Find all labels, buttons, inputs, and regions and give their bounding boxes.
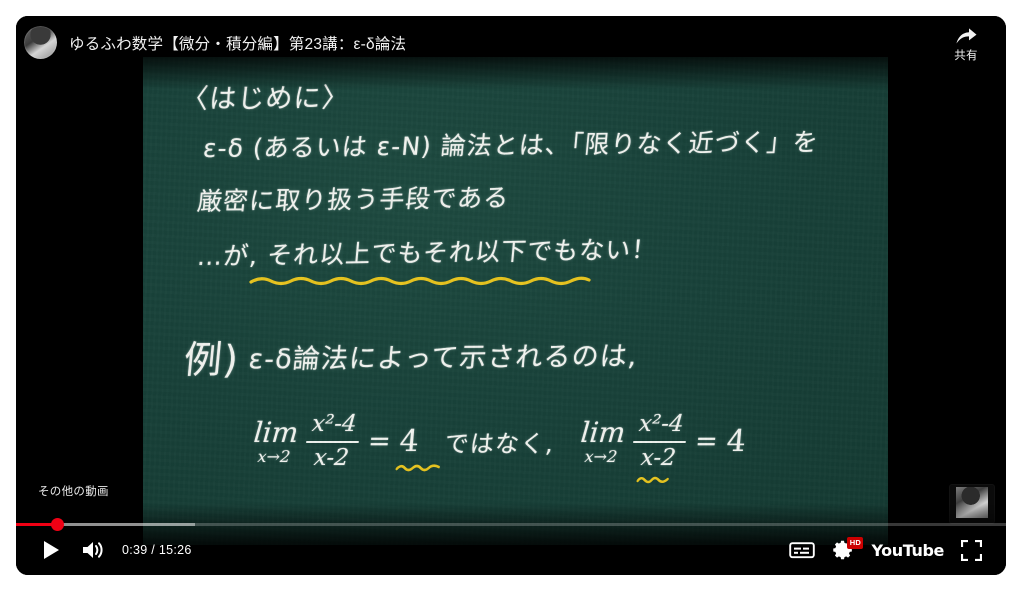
more-videos-label: その他の動画 xyxy=(38,483,109,499)
fullscreen-icon xyxy=(961,540,982,561)
controls-left-group: 0:39 / 15:26 xyxy=(30,533,192,567)
youtube-video-player[interactable]: 〈はじめに〉 ε-δ (あるいは ε-N) 論法とは、「限りなく近づく」を 厳密… xyxy=(16,16,1006,575)
limit-operator-2: lim x→2 xyxy=(578,419,626,465)
controls-right-group: HD YouTube xyxy=(781,533,992,567)
video-surface[interactable]: 〈はじめに〉 ε-δ (あるいは ε-N) 論法とは、「限りなく近づく」を 厳密… xyxy=(16,16,1006,575)
time-display: 0:39 / 15:26 xyxy=(122,543,192,557)
yellow-squiggle-icon-2 xyxy=(637,475,670,484)
denominator-2: x-2 xyxy=(636,446,681,472)
equals-sign-2: = xyxy=(694,426,719,457)
limit-formulas: lim x→2 x²-4 x-2 = 4 xyxy=(253,412,746,472)
blackboard-line-2: ε-δ (あるいは ε-N) 論法とは、「限りなく近づく」を xyxy=(202,123,821,165)
blackboard-heading: 〈はじめに〉 xyxy=(180,76,352,116)
yellow-wavy-underline-icon xyxy=(251,274,589,286)
channel-avatar[interactable] xyxy=(24,26,57,59)
share-arrow-icon xyxy=(954,26,978,46)
youtube-logo-text: YouTube xyxy=(871,541,944,560)
lim-subscript-2: x→2 xyxy=(584,449,618,465)
video-title-group[interactable]: ゆるふわ数学【微分・積分編】第23講：ε-δ論法 xyxy=(24,26,406,59)
yellow-squiggle-icon-1 xyxy=(395,463,440,472)
fraction-2: x²-4 x-2 xyxy=(631,412,689,472)
fraction-1: x²-4 x-2 xyxy=(304,412,362,472)
share-button[interactable]: 共有 xyxy=(940,26,992,63)
equals-sign-1: = xyxy=(367,426,392,457)
blackboard-content: 〈はじめに〉 ε-δ (あるいは ε-N) 論法とは、「限りなく近づく」を 厳密… xyxy=(143,57,888,545)
result-1: 4 xyxy=(398,424,420,459)
play-button[interactable] xyxy=(30,533,72,567)
player-controls-bar: 0:39 / 15:26 HD YouTube xyxy=(16,503,1006,575)
youtube-logo[interactable]: YouTube xyxy=(871,541,944,560)
hd-badge: HD xyxy=(847,537,863,549)
example-text: ε-δ論法によって示されるのは, xyxy=(247,341,639,375)
volume-on-icon xyxy=(81,539,105,561)
result-value-1: 4 xyxy=(398,424,420,459)
subtitles-icon xyxy=(789,540,815,560)
fullscreen-button[interactable] xyxy=(950,533,992,567)
lim-label-1: lim xyxy=(253,419,300,447)
result-value-2: 4 xyxy=(726,424,748,459)
lim-label-2: lim xyxy=(580,419,627,447)
formula-2: lim x→2 x²-4 x-2 = xyxy=(578,412,749,472)
progress-bar[interactable] xyxy=(16,517,1006,531)
formula-1: lim x→2 x²-4 x-2 = 4 xyxy=(250,412,421,472)
volume-button[interactable] xyxy=(72,533,114,567)
fraction-bar-2 xyxy=(634,441,687,443)
result-2: 4 xyxy=(726,424,748,459)
subtitles-button[interactable] xyxy=(781,533,823,567)
lim-subscript-1: x→2 xyxy=(257,449,291,465)
video-title[interactable]: ゆるふわ数学【微分・積分編】第23講：ε-δ論法 xyxy=(69,32,406,54)
numerator-2: x²-4 xyxy=(634,412,689,438)
blackboard-line-3: 厳密に取り扱う手段である xyxy=(196,178,511,218)
denominator-1: x-2 xyxy=(309,446,354,472)
example-marker: 例) xyxy=(182,329,242,384)
blackboard-example-line: 例) ε-δ論法によって示されるのは, xyxy=(182,325,641,384)
fraction-bar-1 xyxy=(306,441,359,443)
settings-button[interactable]: HD xyxy=(823,533,865,567)
progress-scrubber-handle[interactable] xyxy=(51,518,64,531)
limit-operator-1: lim x→2 xyxy=(251,419,299,465)
play-icon xyxy=(40,539,62,561)
progress-track[interactable] xyxy=(16,523,1006,526)
connector-text: ではなく, xyxy=(443,424,556,459)
numerator-1: x²-4 xyxy=(307,412,362,438)
denominator-value-2: x-2 xyxy=(640,445,677,471)
blackboard-line-4: …が, それ以上でもそれ以下でもない！ xyxy=(196,230,659,273)
share-label: 共有 xyxy=(954,47,978,63)
